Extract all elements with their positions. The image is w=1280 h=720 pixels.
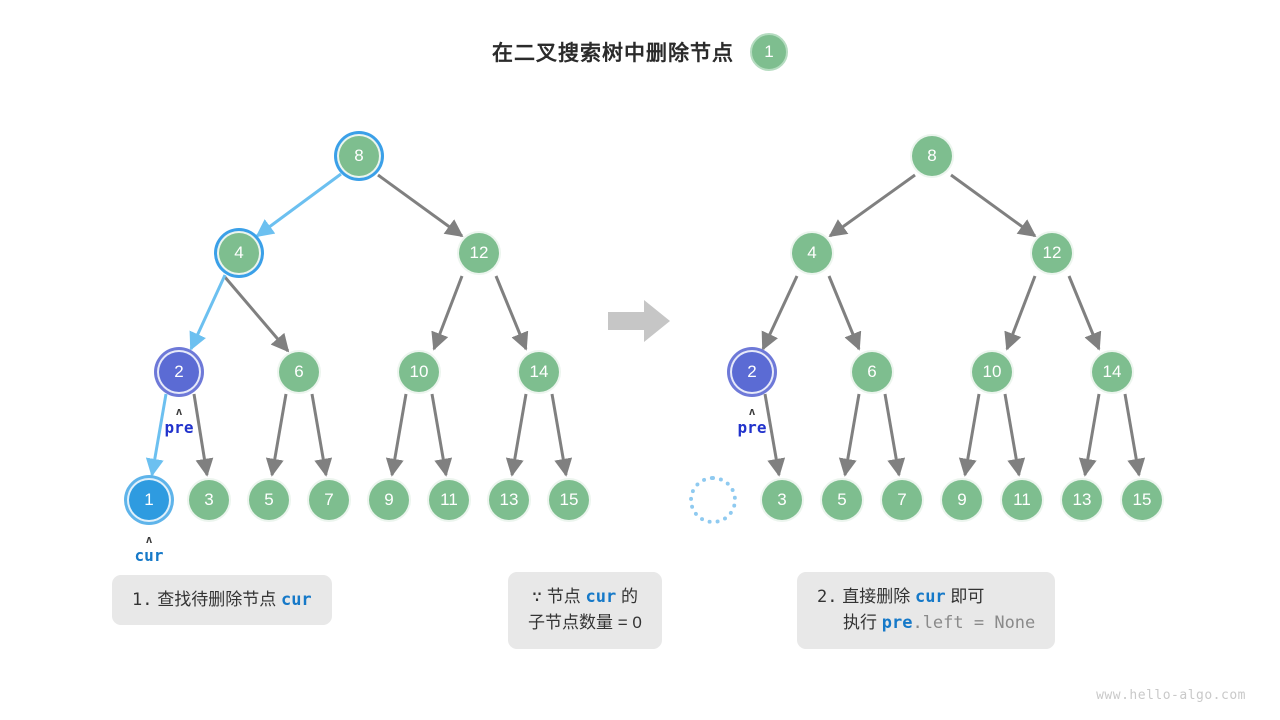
tree-node[interactable]: 7 bbox=[307, 478, 351, 522]
tree-node[interactable]: 14 bbox=[517, 350, 561, 394]
tree-node[interactable]: 8 bbox=[910, 134, 954, 178]
tree-node[interactable]: 2 bbox=[157, 350, 201, 394]
tree-node[interactable]: 11 bbox=[1000, 478, 1044, 522]
because-symbol: ∵ bbox=[532, 587, 542, 607]
pointer-text: cur bbox=[135, 546, 164, 565]
tree-node[interactable]: 12 bbox=[457, 231, 501, 275]
caption-right-line1: 2. 直接删除 cur 即可 bbox=[817, 584, 1035, 610]
tree-node[interactable]: 15 bbox=[547, 478, 591, 522]
caption-right-index: 2. bbox=[817, 587, 837, 607]
caption-left-text: 查找待删除节点 bbox=[157, 590, 276, 609]
caption-left-keyword: cur bbox=[281, 590, 312, 610]
tree-node[interactable]: 4 bbox=[790, 231, 834, 275]
caption-right-post: 即可 bbox=[950, 587, 984, 606]
caption-right-keyword: cur bbox=[915, 587, 946, 607]
tree-node[interactable]: 10 bbox=[397, 350, 441, 394]
transition-arrow-icon bbox=[608, 298, 672, 344]
caption-right-pre: 直接删除 bbox=[842, 587, 910, 606]
caption-left-index: 1. bbox=[132, 590, 152, 610]
tree-node[interactable]: 13 bbox=[1060, 478, 1104, 522]
tree-node[interactable]: 12 bbox=[1030, 231, 1074, 275]
caption-mid-pre: 节点 bbox=[547, 587, 581, 606]
tree-node[interactable]: 5 bbox=[247, 478, 291, 522]
pointer-text: pre bbox=[738, 418, 767, 437]
watermark: www.hello-algo.com bbox=[1096, 688, 1246, 703]
tree-node[interactable]: 9 bbox=[367, 478, 411, 522]
tree-node[interactable]: 15 bbox=[1120, 478, 1164, 522]
caret-up-icon: ʌ bbox=[712, 406, 792, 417]
tree-node[interactable]: 11 bbox=[427, 478, 471, 522]
caption-right-line2-keyword: pre bbox=[882, 613, 913, 633]
tree-node[interactable]: 3 bbox=[187, 478, 231, 522]
tree-node[interactable]: 9 bbox=[940, 478, 984, 522]
tree-node[interactable]: 10 bbox=[970, 350, 1014, 394]
tree-node[interactable]: 7 bbox=[880, 478, 924, 522]
title-text: 在二叉搜索树中删除节点 bbox=[492, 37, 734, 67]
tree-node[interactable]: 2 bbox=[730, 350, 774, 394]
tree-node[interactable]: 8 bbox=[337, 134, 381, 178]
title-step-badge: 1 bbox=[750, 33, 788, 71]
pointer-label-pre: ʌpre bbox=[139, 406, 219, 436]
page-title: 在二叉搜索树中删除节点 1 bbox=[0, 33, 1280, 71]
tree-node[interactable]: 13 bbox=[487, 478, 531, 522]
tree-node[interactable]: 3 bbox=[760, 478, 804, 522]
pointer-label-cur: ʌcur bbox=[109, 534, 189, 564]
caption-right-line2: 执行 pre.left = None bbox=[817, 610, 1035, 636]
tree-node[interactable]: 6 bbox=[277, 350, 321, 394]
diagram-canvas: 在二叉搜索树中删除节点 1 bbox=[0, 0, 1280, 720]
tree-node[interactable]: 6 bbox=[850, 350, 894, 394]
tree-node[interactable]: 14 bbox=[1090, 350, 1134, 394]
caption-step-2: 2. 直接删除 cur 即可 执行 pre.left = None bbox=[797, 572, 1055, 649]
caption-mid-line1: ∵ 节点 cur 的 bbox=[528, 584, 642, 610]
tree-node[interactable]: 4 bbox=[217, 231, 261, 275]
deleted-node-placeholder bbox=[689, 476, 737, 524]
caption-right-line2-pre: 执行 bbox=[843, 613, 877, 632]
caption-mid-keyword: cur bbox=[586, 587, 617, 607]
caption-step-1: 1. 查找待删除节点 cur bbox=[112, 575, 332, 625]
tree-node[interactable]: 1 bbox=[127, 478, 171, 522]
caption-mid-line2: 子节点数量 = 0 bbox=[528, 610, 642, 636]
pointer-label-pre: ʌpre bbox=[712, 406, 792, 436]
tree-node[interactable]: 5 bbox=[820, 478, 864, 522]
caption-right-line2-code: .left = None bbox=[912, 613, 1035, 633]
caption-reason: ∵ 节点 cur 的 子节点数量 = 0 bbox=[508, 572, 662, 649]
caption-mid-post: 的 bbox=[621, 587, 638, 606]
pointer-text: pre bbox=[165, 418, 194, 437]
caret-up-icon: ʌ bbox=[139, 406, 219, 417]
caret-up-icon: ʌ bbox=[109, 534, 189, 545]
